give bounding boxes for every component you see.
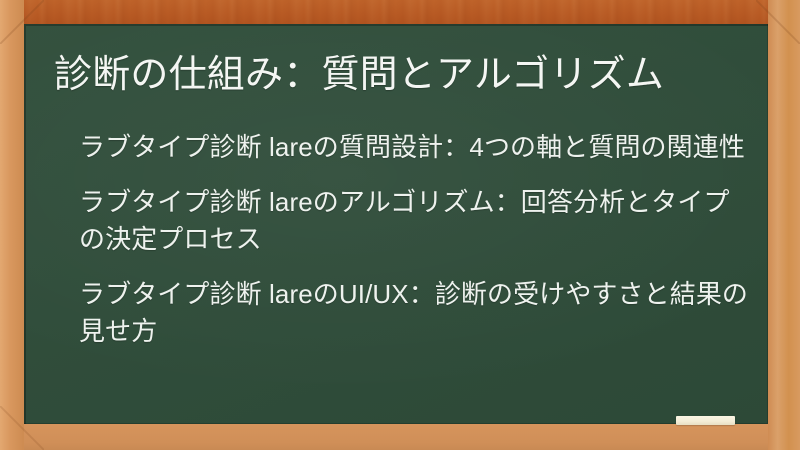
- slide-item-list: ラブタイプ診断 lareの質問設計：4つの軸と質問の関連性 ラブタイプ診断 la…: [79, 129, 751, 350]
- chalk-stick-icon: [676, 416, 735, 425]
- frame-right-wood: [768, 0, 800, 450]
- chalkboard-slide: 診断の仕組み：質問とアルゴリズム ラブタイプ診断 lareの質問設計：4つの軸と…: [0, 0, 800, 450]
- frame-left-wood: [0, 0, 24, 450]
- list-item: ラブタイプ診断 lareの質問設計：4つの軸と質問の関連性: [79, 129, 751, 166]
- chalkboard-surface: 診断の仕組み：質問とアルゴリズム ラブタイプ診断 lareの質問設計：4つの軸と…: [24, 24, 768, 424]
- list-item: ラブタイプ診断 lareのUI/UX：診断の受けやすさと結果の見せ方: [79, 276, 751, 350]
- frame-bottom-wood: [0, 424, 800, 450]
- slide-title: 診断の仕組み：質問とアルゴリズム: [54, 52, 744, 98]
- list-item: ラブタイプ診断 lareのアルゴリズム：回答分析とタイプの決定プロセス: [79, 184, 751, 258]
